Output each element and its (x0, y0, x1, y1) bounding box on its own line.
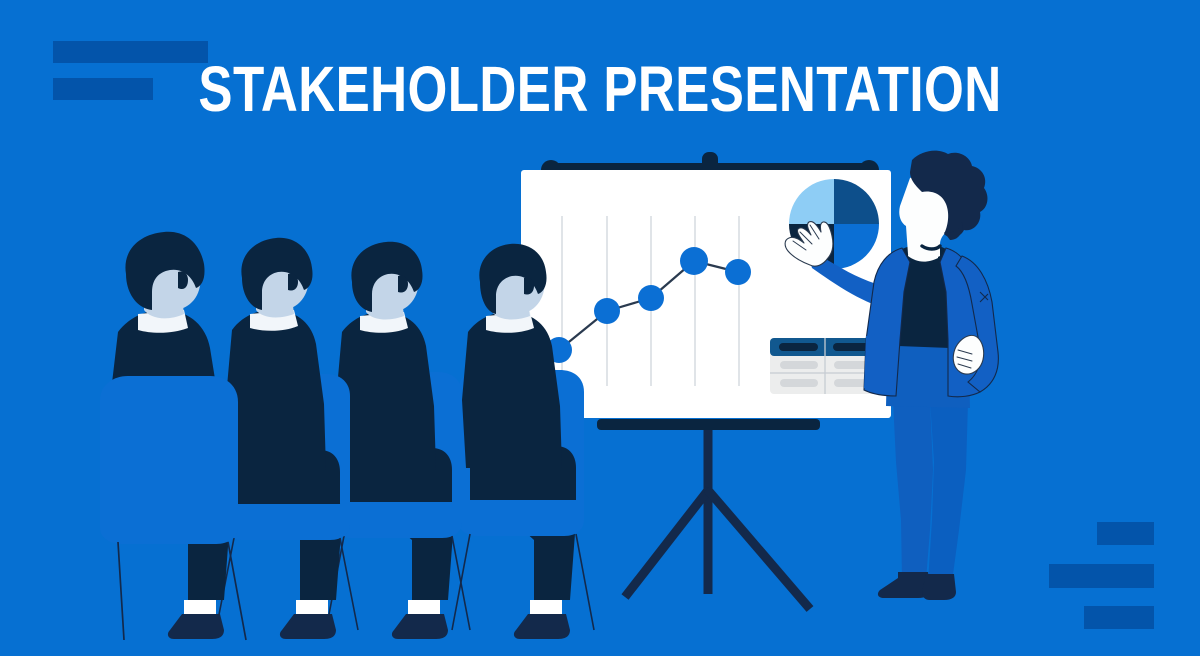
chart-point-3 (638, 285, 664, 311)
deco-bar-top-1 (53, 41, 208, 63)
presenter-jacket-hem (864, 332, 888, 394)
member3-chair-seat (332, 502, 462, 538)
member1-sock (184, 600, 216, 614)
deco-bar-top-2 (53, 78, 153, 100)
chart-point-4 (680, 247, 708, 275)
deco-bar-bottom-2 (1049, 564, 1154, 588)
deco-bar-bottom-3 (1084, 606, 1154, 629)
member4-sock (530, 600, 562, 614)
member2-torso (226, 310, 326, 470)
illustration-canvas (0, 0, 1200, 656)
board-tray (597, 419, 820, 430)
member4-chair-seat (458, 500, 584, 536)
member4-torso (462, 312, 562, 468)
member2-sock (296, 600, 328, 614)
presentation-slide: STAKEHOLDER PRESENTATION (0, 0, 1200, 656)
table-cell-pill-3 (780, 379, 818, 387)
table-cell-pill-1 (780, 361, 818, 369)
member1-chair-back (100, 376, 238, 518)
chart-point-5 (725, 259, 751, 285)
presenter-shoe-front (922, 574, 956, 600)
deco-bar-bottom-1 (1097, 522, 1154, 545)
member2-chair-seat (222, 504, 350, 540)
chart-point-2 (594, 298, 620, 324)
member3-torso (336, 312, 436, 470)
member1-chair-seat (100, 506, 238, 544)
member3-sock (408, 600, 440, 614)
table-header-pill-1 (779, 343, 818, 351)
